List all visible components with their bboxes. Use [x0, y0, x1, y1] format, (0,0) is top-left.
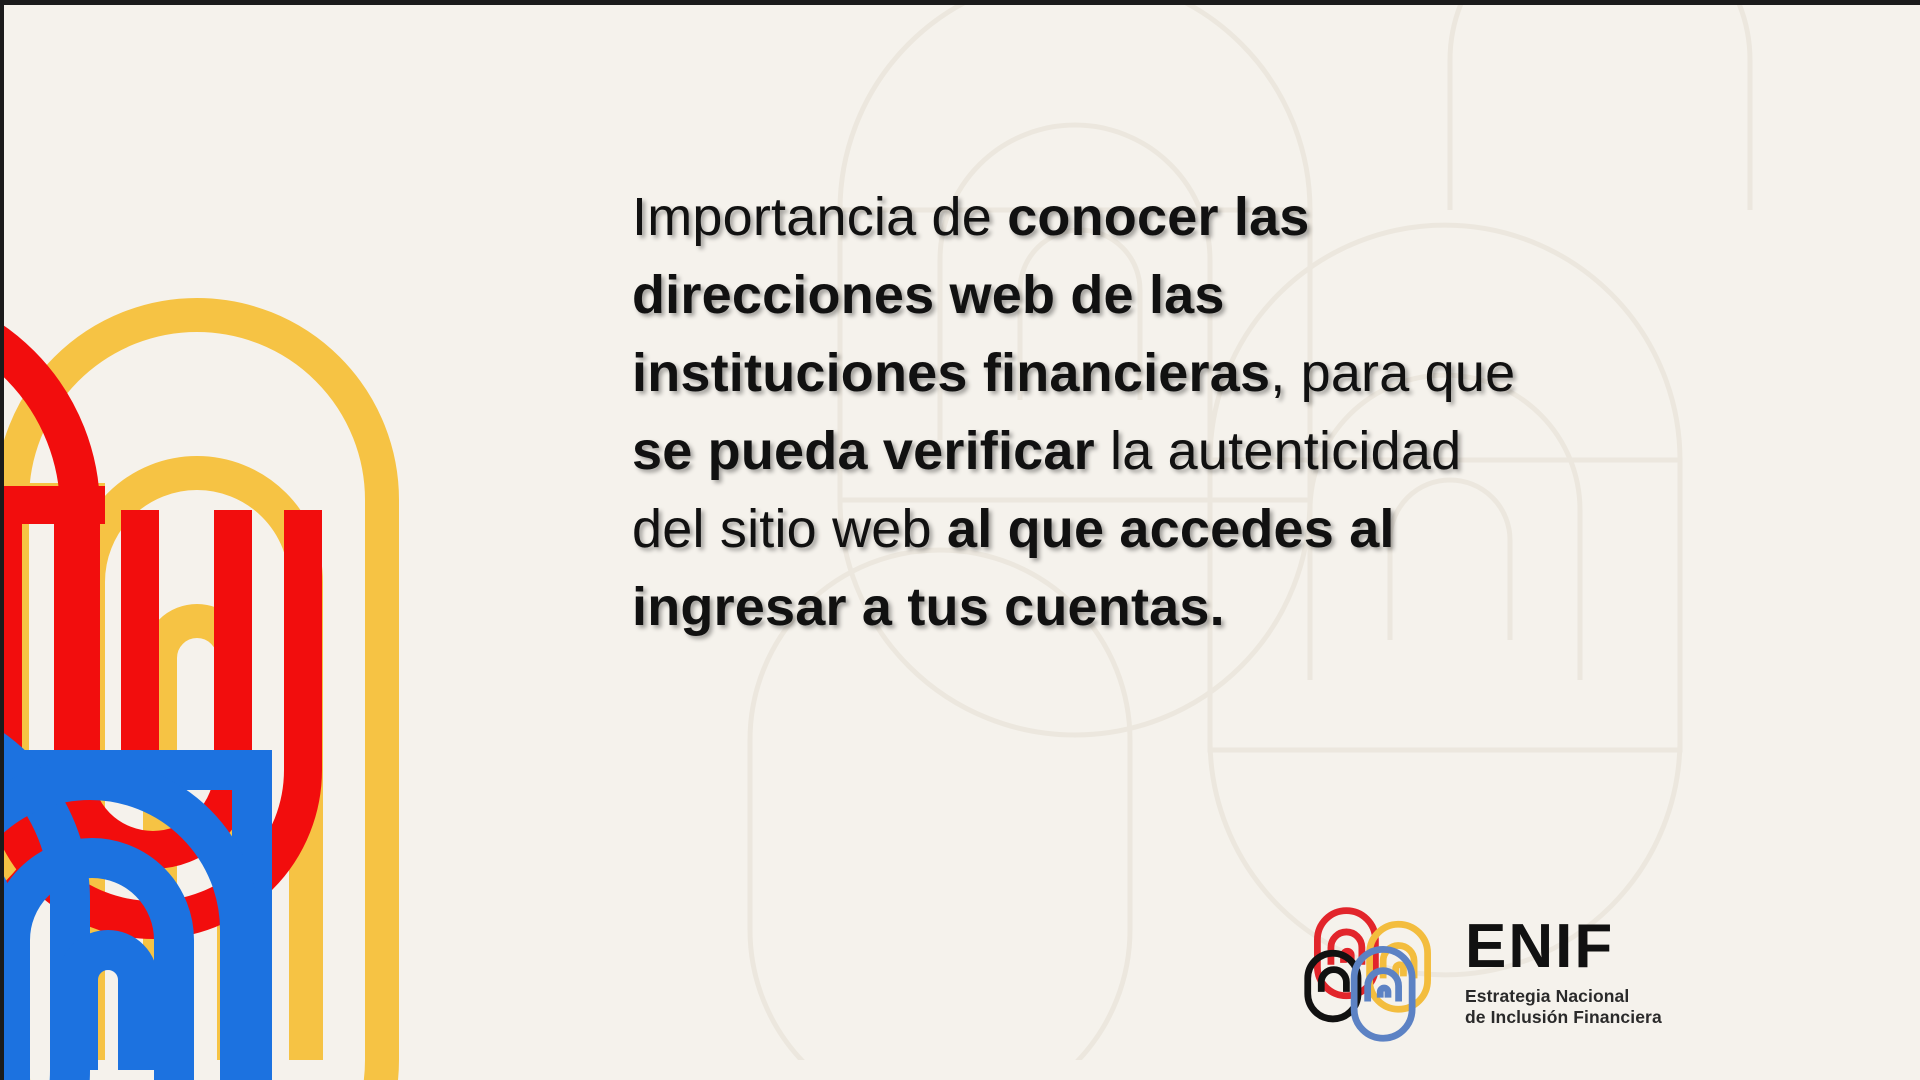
copy-line-4: se pueda verificar la autenticidad: [632, 412, 1604, 490]
copy-line-1: Importancia de conocer las: [632, 178, 1604, 256]
slide-canvas: Importancia de conocer las direcciones w…: [0, 0, 1920, 1080]
copy-seg-bold: direcciones web de las: [632, 265, 1225, 325]
copy-seg-bold: se pueda verificar: [632, 421, 1095, 481]
copy-line-3: instituciones financieras, para que: [632, 334, 1604, 412]
copy-line-2: direcciones web de las: [632, 256, 1604, 334]
copy-seg-bold: instituciones financieras: [632, 343, 1270, 403]
copy-seg-bold: al que accedes al: [947, 499, 1395, 559]
enif-tagline-line-1: Estrategia Nacional: [1465, 986, 1662, 1007]
enif-mark-icon: [1300, 901, 1445, 1046]
copy-line-5: del sitio web al que accedes al: [632, 490, 1604, 568]
enif-logo: ENIF Estrategia Nacional de Inclusión Fi…: [1300, 898, 1710, 1048]
enif-tagline: Estrategia Nacional de Inclusión Financi…: [1465, 986, 1662, 1029]
copy-line-6: ingresar a tus cuentas.: [632, 568, 1604, 646]
copy-seg: , para que: [1270, 343, 1515, 403]
left-edge-band: [0, 0, 4, 1080]
enif-wordmark-block: ENIF Estrategia Nacional de Inclusión Fi…: [1465, 917, 1662, 1028]
copy-seg-bold: conocer las: [1007, 187, 1309, 247]
top-edge-band: [0, 0, 1920, 5]
enif-wordmark: ENIF: [1465, 917, 1662, 977]
body-copy: Importancia de conocer las direcciones w…: [632, 178, 1604, 646]
enif-tagline-line-2: de Inclusión Financiera: [1465, 1007, 1662, 1028]
copy-seg: del sitio web: [632, 499, 947, 559]
copy-seg: Importancia de: [632, 187, 1007, 247]
copy-seg: la autenticidad: [1095, 421, 1461, 481]
copy-seg-bold: ingresar a tus cuentas.: [632, 577, 1225, 637]
